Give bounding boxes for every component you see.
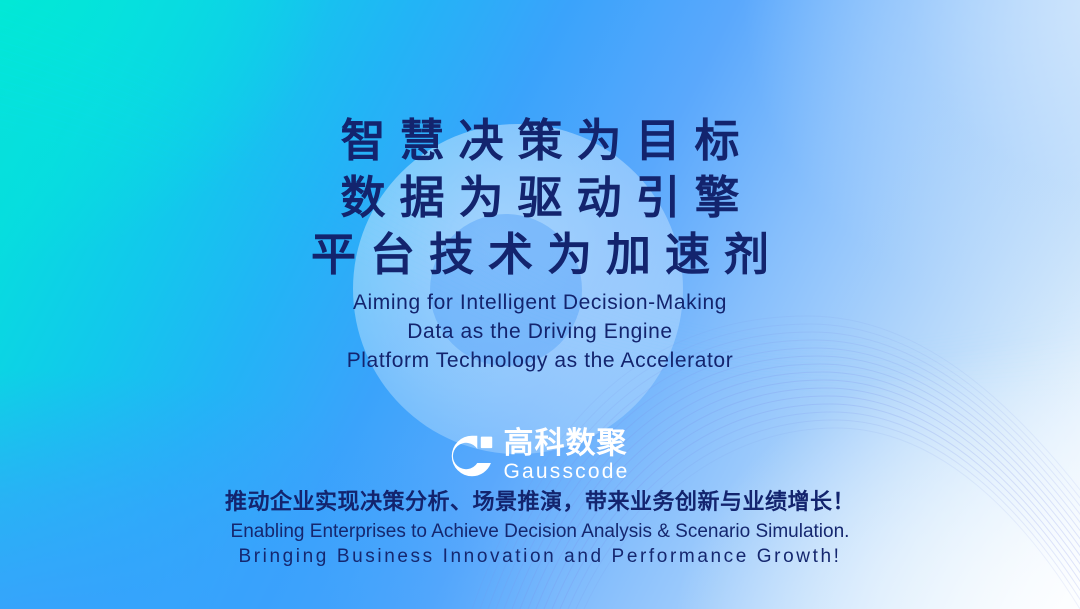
brand-name-en: Gausscode [503, 460, 629, 483]
headline: 智慧决策为目标 数据为驱动引擎 平台技术为加速剂 [0, 112, 1080, 283]
brand-logo-words: 高科数聚 Gausscode [503, 428, 629, 483]
headline-line-2: 数据为驱动引擎 [0, 169, 1080, 226]
subheadline-line-2: Data as the Driving Engine [0, 317, 1080, 346]
subheadline-line-1: Aiming for Intelligent Decision-Making [0, 288, 1080, 317]
subheadline: Aiming for Intelligent Decision-Making D… [0, 288, 1080, 375]
tagline-english: Enabling Enterprises to Achieve Decision… [0, 519, 1080, 569]
tagline-english-line-2: Bringing Business Innovation and Perform… [0, 544, 1080, 569]
tagline-chinese: 推动企业实现决策分析、场景推演，带来业务创新与业绩增长！ [0, 484, 1080, 516]
headline-line-3: 平台技术为加速剂 [0, 226, 1080, 283]
gausscode-logo-mark-icon [450, 434, 494, 478]
tagline-english-line-1: Enabling Enterprises to Achieve Decision… [0, 519, 1080, 544]
poster-canvas: 智慧决策为目标 数据为驱动引擎 平台技术为加速剂 Aiming for Inte… [0, 0, 1080, 609]
headline-line-1: 智慧决策为目标 [0, 112, 1080, 169]
subheadline-line-3: Platform Technology as the Accelerator [0, 346, 1080, 375]
brand-logo: 高科数聚 Gausscode [0, 428, 1080, 483]
brand-name-cn: 高科数聚 [503, 428, 627, 459]
